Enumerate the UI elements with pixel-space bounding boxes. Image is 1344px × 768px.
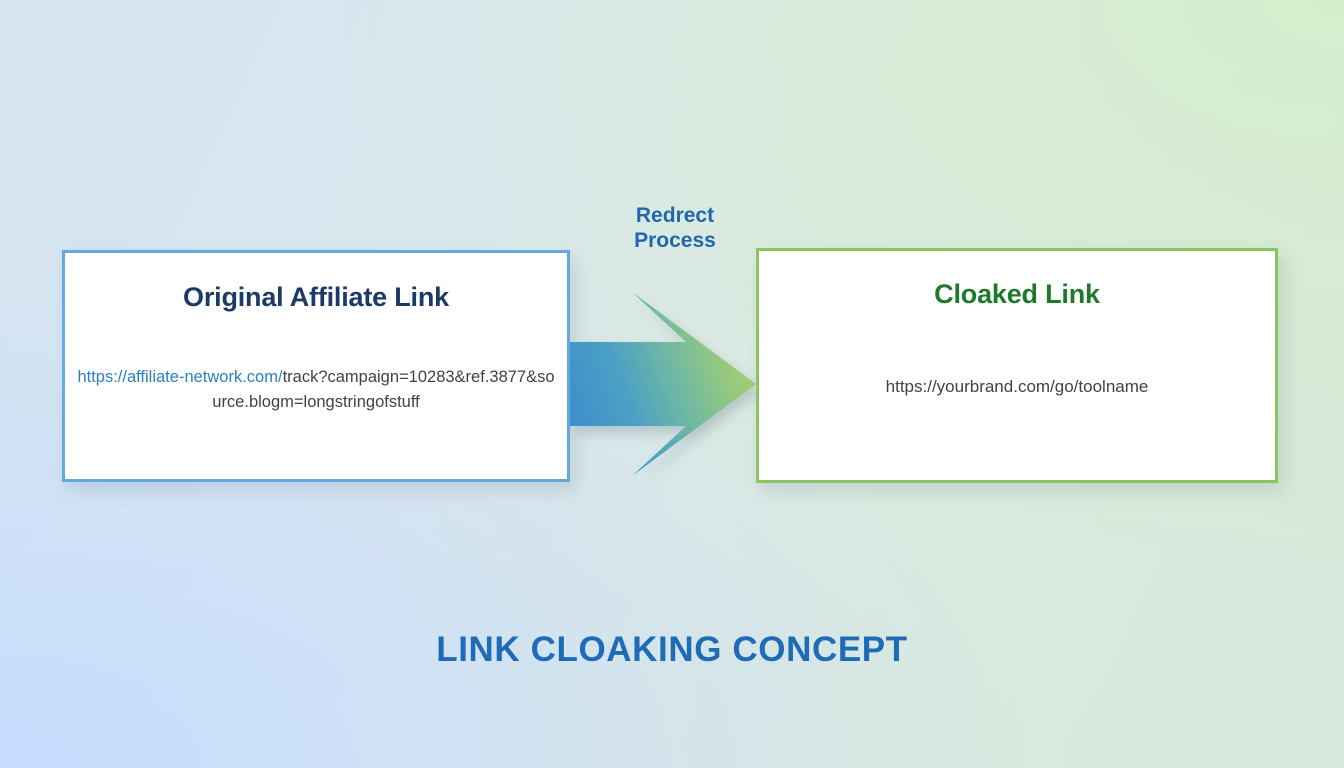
original-affiliate-link-card: Original Affiliate Link https://affiliat… xyxy=(62,250,570,482)
original-url-host: https://affiliate-network.com/ xyxy=(77,368,282,386)
page-title: LINK CLOAKING CONCEPT xyxy=(0,630,1344,670)
redirect-process-label: Redrect Process xyxy=(600,203,750,253)
right-arrow-icon xyxy=(566,288,762,480)
cloaked-link-card: Cloaked Link https://yourbrand.com/go/to… xyxy=(756,248,1278,483)
redirect-label-line2: Process xyxy=(600,228,750,253)
redirect-label-line1: Redrect xyxy=(600,203,750,228)
original-card-title: Original Affiliate Link xyxy=(65,282,567,313)
diagram-canvas: Original Affiliate Link https://affiliat… xyxy=(0,0,1344,768)
original-card-url: https://affiliate-network.com/track?camp… xyxy=(77,365,555,415)
cloaked-card-url: https://yourbrand.com/go/toolname xyxy=(771,374,1263,399)
cloaked-card-title: Cloaked Link xyxy=(759,279,1275,310)
